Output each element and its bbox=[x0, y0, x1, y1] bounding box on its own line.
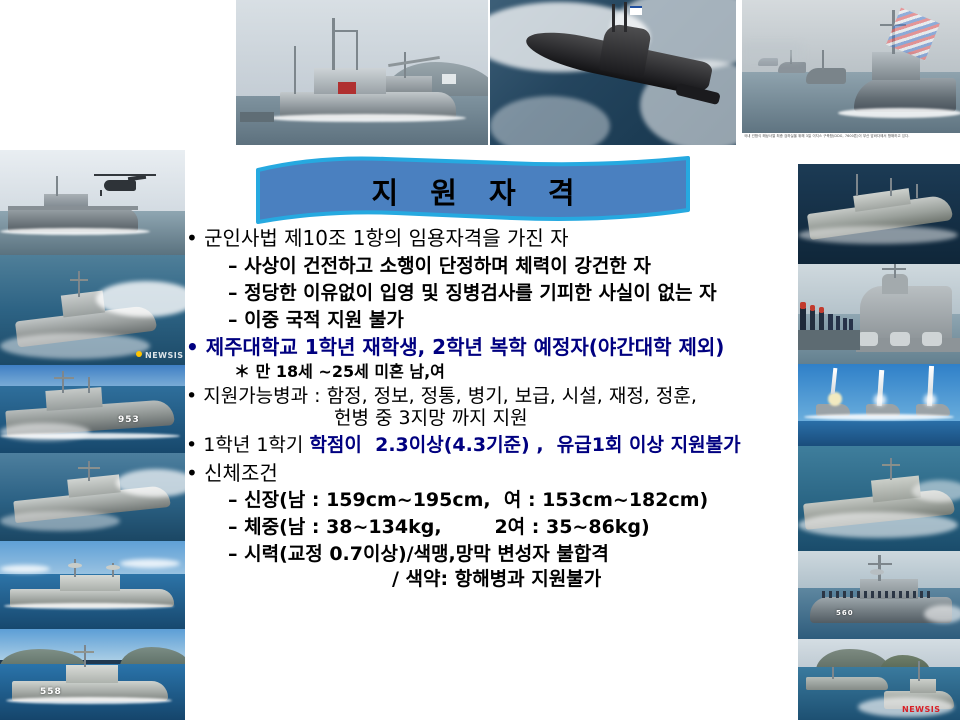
dash-vision-requirement: – 시력(교정 0.7이상)/색맹,망막 변성자 불합격 bbox=[228, 545, 806, 564]
photo-corvette-558: 558 bbox=[0, 629, 185, 720]
body-content: • 군인사법 제10조 1항의 임용자격을 가진 자 – 사상이 건전하고 소행… bbox=[186, 228, 806, 589]
photo-frigate-953: 953 bbox=[0, 365, 185, 453]
title-banner: 지 원 자 격 bbox=[256, 156, 690, 224]
gpa-value: 학점이 2.3이상(4.3기준) , 유급1회 이상 지원불가 bbox=[309, 434, 740, 456]
photo-fast-patrol-boat bbox=[798, 164, 960, 264]
slide-canvas: 국내 건함식 해상사열 최종 검하실을 위해 3일 이지스 구축함(DDG, 7… bbox=[0, 0, 960, 720]
caption-text: 국내 건함식 해상사열 최종 검하실을 위해 3일 이지스 구축함(DDG, 7… bbox=[744, 134, 910, 138]
photo-patrol-combatant bbox=[0, 541, 185, 629]
photo-sailors-manning-the-rail bbox=[798, 264, 960, 364]
bullet-eligibility-law: • 군인사법 제10조 1항의 임용자격을 가진 자 bbox=[186, 228, 806, 248]
branches-continued: 헌병 중 3지망 까지 지원 bbox=[334, 409, 806, 428]
photo-destroyer-formation bbox=[742, 0, 960, 133]
hull-number-558: 558 bbox=[40, 687, 62, 697]
newsis-watermark-right: NEWSIS bbox=[902, 705, 940, 714]
bullet-physical-requirements: • 신체조건 bbox=[186, 463, 806, 483]
gpa-prefix: • 1학년 1학기 bbox=[186, 434, 309, 456]
photo-submarine-surfacing bbox=[490, 0, 736, 145]
newsis-watermark-left: NEWSIS bbox=[145, 351, 183, 360]
dash-no-draft-evasion: – 정당한 이유없이 입영 및 징병검사를 기피한 사실이 없는 자 bbox=[228, 284, 806, 303]
dash-no-dual-citizenship: – 이중 국적 지원 불가 bbox=[228, 311, 806, 330]
photo-two-ships-near-island: NEWSIS bbox=[798, 639, 960, 720]
dash-color-weakness-note: / 색약: 항해병과 지원불가 bbox=[392, 570, 806, 589]
photo-landing-ship-with-helicopter bbox=[0, 150, 185, 255]
hull-number-953: 953 bbox=[118, 415, 140, 425]
hull-number-560: 560 bbox=[836, 609, 854, 617]
destroyer-formation-caption: 국내 건함식 해상사열 최종 검하실을 위해 3일 이지스 구축함(DDG, 7… bbox=[742, 133, 960, 149]
note-age-range: ＊ 만 18세 ~25세 미혼 남,여 bbox=[234, 364, 806, 380]
photo-landing-ship-underway: NEWSIS bbox=[0, 255, 185, 365]
bullet-available-branches: • 지원가능병과 : 함정, 정보, 정통, 병기, 보급, 시설, 재정, 정… bbox=[186, 387, 806, 406]
photo-amphibious-landing-ship bbox=[798, 446, 960, 551]
lead-destroyer-hull bbox=[854, 78, 956, 112]
photo-destroyer-underway bbox=[0, 453, 185, 541]
dash-weight-requirement: – 체중(남 : 38~134kg, 2여 : 35~86kg) bbox=[228, 518, 806, 537]
dash-height-requirement: – 신장(남 : 159cm~195cm, 여 : 153cm~182cm) bbox=[228, 491, 806, 510]
bullet-gpa-requirement: • 1학년 1학기 학점이 2.3이상(4.3기준) , 유급1회 이상 지원불… bbox=[186, 436, 806, 455]
dash-sound-character: – 사상이 건전하고 소행이 단정하며 체력이 강건한 자 bbox=[228, 257, 806, 276]
photo-salvage-ship bbox=[236, 0, 488, 145]
bullet-jeju-university-students: • 제주대학교 1학년 재학생, 2학년 복학 예정자(야간대학 제외) bbox=[186, 337, 806, 357]
page-title: 지 원 자 격 bbox=[256, 156, 690, 224]
photo-frigate-560-crew-on-deck: 560 bbox=[798, 551, 960, 639]
newsis-logo-dot bbox=[136, 351, 142, 357]
photo-missile-launch-salvo bbox=[798, 364, 960, 446]
